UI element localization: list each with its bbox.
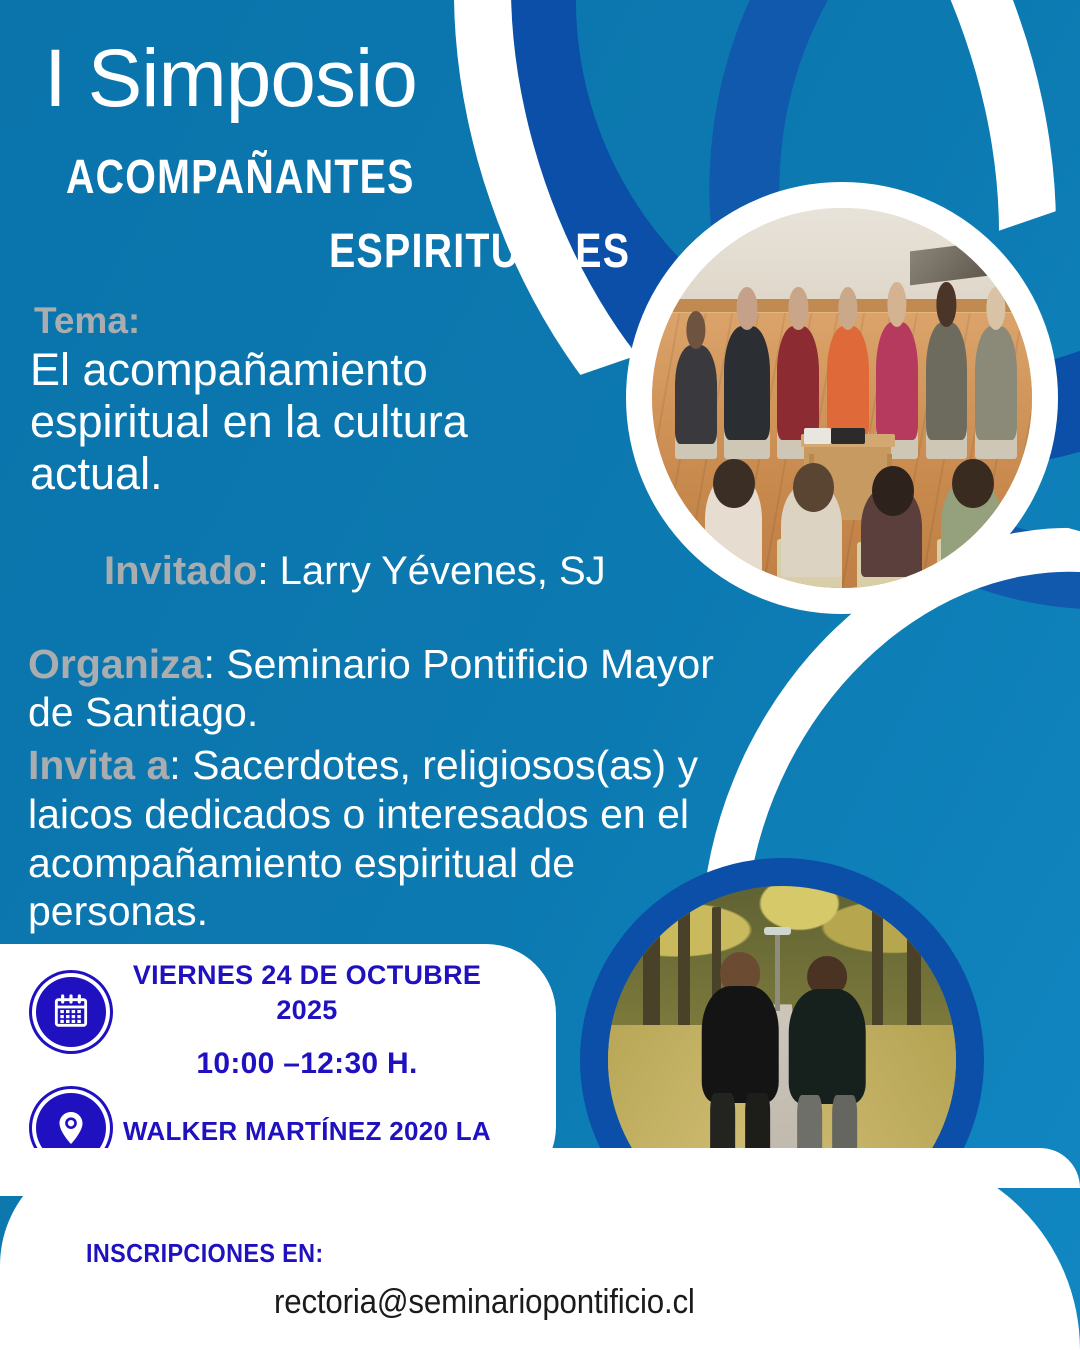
invita-line: Invita a: Sacerdotes, religiosos(as) y l… [28,741,756,936]
tema-text: El acompañamiento espiritual en la cultu… [30,344,590,501]
invitado-label: Invitado [104,549,257,593]
organiza-line: Organiza: Seminario Pontificio Mayor de … [28,640,756,738]
poster-canvas: I Simposio ACOMPAÑANTES ESPIRITUALES Tem… [0,0,1080,1350]
invitado-separator: : [257,549,279,593]
organiza-label: Organiza [28,641,203,687]
invita-separator: : [169,742,192,788]
poster-title: I Simposio [44,38,684,120]
organiza-separator: : [203,641,226,687]
invitado-value: Larry Yévenes, SJ [280,549,606,593]
registration-label: INSCRIPCIONES EN: [86,1238,324,1269]
subtitle-line-2: ESPIRITUALES [329,226,620,278]
body-copy-block: Tema: El acompañamiento espiritual en la… [26,300,756,936]
registration-email[interactable]: rectoria@seminariopontificio.cl [274,1283,695,1322]
event-details-icons [0,977,106,1163]
subtitle-line-1: ACOMPAÑANTES [66,152,573,204]
event-time: 10:00 –12:30 H. [106,1047,508,1081]
tema-label: Tema: [34,300,756,342]
headline-block: I Simposio ACOMPAÑANTES ESPIRITUALES [44,38,684,278]
invitado-line: Invitado: Larry Yévenes, SJ [104,549,756,594]
calendar-icon [36,977,106,1047]
invita-label: Invita a [28,742,169,788]
event-date: VIERNES 24 DE OCTUBRE 2025 [106,958,508,1027]
